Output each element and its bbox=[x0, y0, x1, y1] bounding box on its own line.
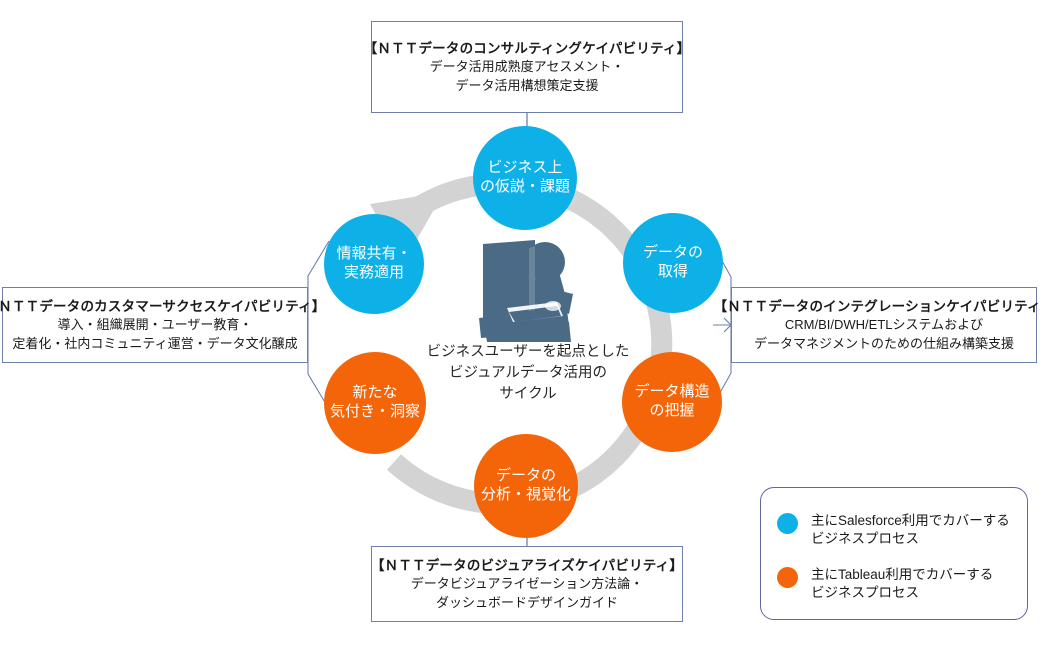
cycle-node-analysis-line1: データの bbox=[496, 467, 556, 484]
callout-customer-success-title: 【ＮＴＴデータのカスタマーサクセスケイパビリティ】 bbox=[0, 297, 325, 316]
cycle-node-insight-line2: 気付き・洞察 bbox=[330, 403, 420, 420]
legend-item-salesforce: 主にSalesforce利用でカバーする ビジネスプロセス bbox=[777, 512, 1010, 548]
cycle-node-analysis[interactable]: データの 分析・視覚化 bbox=[474, 434, 578, 538]
cycle-node-share-line2: 実務適用 bbox=[344, 264, 404, 281]
cycle-node-insight-line1: 新たな bbox=[352, 384, 397, 401]
legend: 主にSalesforce利用でカバーする ビジネスプロセス 主にTableau利… bbox=[760, 487, 1028, 620]
callout-customer-success-line1: 導入・組織展開・ユーザー教育・ bbox=[58, 316, 253, 334]
callout-integration-line2: データマネジメントのための仕組み構築支援 bbox=[754, 335, 1014, 353]
callout-consulting-title: 【ＮＴＴデータのコンサルティングケイパビリティ】 bbox=[364, 39, 691, 58]
center-caption-line3: サイクル bbox=[398, 384, 658, 405]
callout-integration-line1: CRM/BI/DWH/ETLシステムおよび bbox=[785, 316, 983, 334]
callout-integration[interactable]: 【ＮＴＴデータのインテグレーションケイパビリティ】 CRM/BI/DWH/ETL… bbox=[731, 287, 1037, 363]
cycle-node-share[interactable]: 情報共有・ 実務適用 bbox=[324, 214, 424, 314]
callout-integration-title: 【ＮＴＴデータのインテグレーションケイパビリティ】 bbox=[714, 297, 1040, 316]
center-caption: ビジネスユーザーを起点とした ビジュアルデータ活用の サイクル bbox=[398, 342, 658, 405]
cycle-node-hypothesis[interactable]: ビジネス上 の仮説・課題 bbox=[473, 126, 577, 230]
callout-consulting[interactable]: 【ＮＴＴデータのコンサルティングケイパビリティ】 データ活用成熟度アセスメント・… bbox=[371, 21, 683, 113]
cycle-node-structure-line1: データ構造 bbox=[634, 383, 709, 400]
center-caption-line1: ビジネスユーザーを起点とした bbox=[398, 342, 658, 363]
person-at-computer-icon bbox=[473, 238, 583, 346]
legend-item-salesforce-line2: ビジネスプロセス bbox=[811, 530, 1010, 548]
callout-customer-success-line2: 定着化・社内コミュニティ運営・データ文化醸成 bbox=[12, 335, 297, 353]
callout-consulting-line1: データ活用成熟度アセスメント・ bbox=[430, 58, 625, 76]
cycle-node-hypothesis-line2: の仮説・課題 bbox=[480, 178, 570, 195]
callout-customer-success[interactable]: 【ＮＴＴデータのカスタマーサクセスケイパビリティ】 導入・組織展開・ユーザー教育… bbox=[2, 287, 308, 363]
cycle-node-insight[interactable]: 新たな 気付き・洞察 bbox=[324, 352, 426, 454]
callout-visualize-line1: データビジュアライゼーション方法論・ bbox=[411, 575, 644, 593]
cycle-node-hypothesis-line1: ビジネス上 bbox=[487, 159, 562, 176]
callout-visualize-title: 【ＮＴＴデータのビジュアライズケイパビリティ】 bbox=[371, 556, 683, 575]
diagram-canvas: ビジネス上 の仮説・課題 データの 取得 データ構造 の把握 データの 分析・視… bbox=[0, 0, 1040, 650]
center-caption-line2: ビジュアルデータ活用の bbox=[398, 363, 658, 384]
legend-dot-blue-icon bbox=[777, 513, 798, 534]
cycle-node-acquire-line2: 取得 bbox=[658, 263, 688, 280]
cycle-node-analysis-line2: 分析・視覚化 bbox=[481, 486, 571, 503]
cycle-node-share-line1: 情報共有・ bbox=[336, 245, 411, 262]
legend-item-tableau-line1: 主にTableau利用でカバーする bbox=[811, 566, 993, 584]
callout-visualize-line2: ダッシュボードデザインガイド bbox=[436, 594, 618, 612]
cycle-node-acquire[interactable]: データの 取得 bbox=[623, 213, 723, 313]
cycle-node-structure-line2: の把握 bbox=[649, 402, 694, 419]
cycle-node-acquire-line1: データの bbox=[643, 244, 703, 261]
legend-item-tableau: 主にTableau利用でカバーする ビジネスプロセス bbox=[777, 566, 993, 602]
legend-item-tableau-line2: ビジネスプロセス bbox=[811, 584, 993, 602]
legend-item-salesforce-line1: 主にSalesforce利用でカバーする bbox=[811, 512, 1010, 530]
legend-dot-orange-icon bbox=[777, 567, 798, 588]
cycle-node-structure[interactable]: データ構造 の把握 bbox=[622, 352, 722, 452]
callout-consulting-line2: データ活用構想策定支援 bbox=[455, 77, 598, 95]
callout-visualize[interactable]: 【ＮＴＴデータのビジュアライズケイパビリティ】 データビジュアライゼーション方法… bbox=[371, 546, 683, 622]
